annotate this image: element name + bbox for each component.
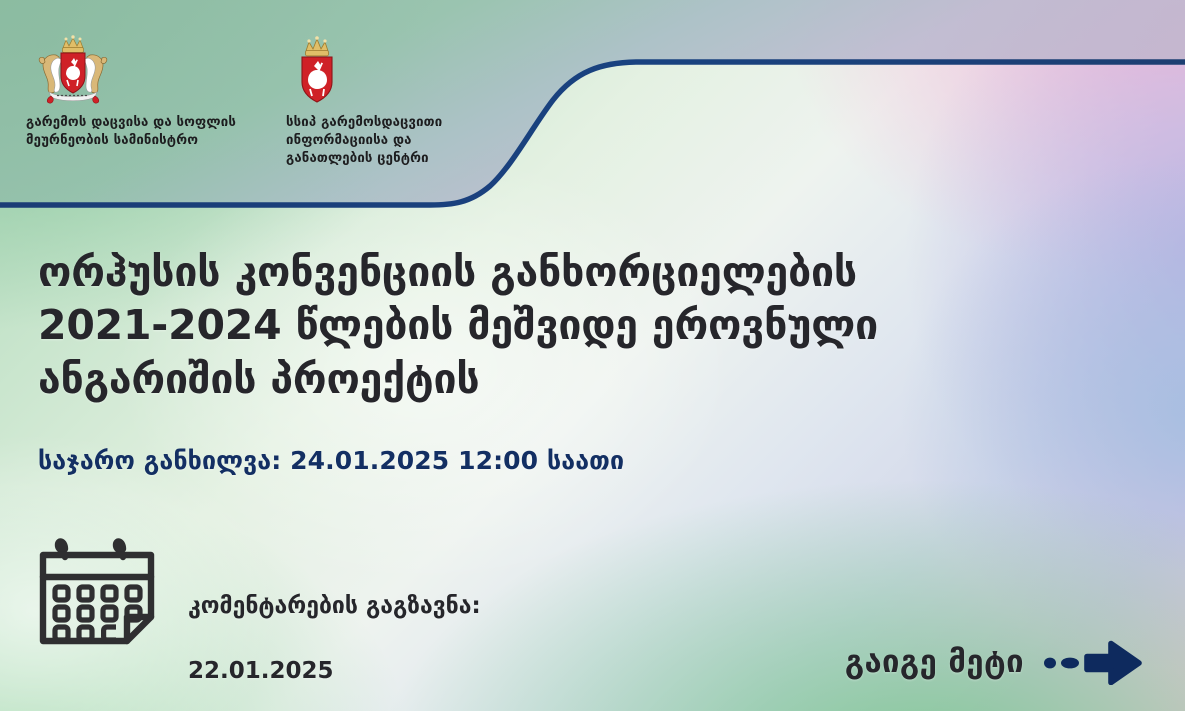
comment-deadline-group: კომენტარების გაგზავნა: 22.01.2025 [34,528,481,687]
crown-part [306,36,329,56]
page-title: ორჰუსის კონვენციის განხორციელების 2021-2… [38,246,998,406]
logo-ssip: სსიპ გარემოსდაცვითი ინფორმაციისა და განა… [286,34,501,168]
crown-part [63,35,84,52]
learn-more-cta[interactable]: გაიგე მეტი [845,639,1143,685]
public-hearing-line: საჯარო განხილვა: 24.01.2025 12:00 საათი [38,446,624,475]
poster-canvas: გარემოს დაცვისა და სოფლის მეურნეობის სამ… [0,0,1185,711]
dotted-arrow-right-icon[interactable] [1043,639,1143,685]
logo-ministry-caption: გარემოს დაცვისა და სოფლის მეურნეობის სამ… [26,114,276,150]
logo-ssip-caption: სსიპ გარემოსდაცვითი ინფორმაციისა და განა… [286,114,501,168]
ssip-shield-icon [290,34,344,106]
comment-deadline-date: 22.01.2025 [188,658,334,684]
georgia-coat-of-arms-icon [35,34,111,106]
comment-deadline-label: კომენტარების გაგზავნა: [188,593,481,619]
logo-ministry: გარემოს დაცვისა და სოფლის მეურნეობის სამ… [26,34,276,150]
comment-deadline-text: კომენტარების გაგზავნა: 22.01.2025 [188,558,481,687]
calendar-icon [34,532,160,650]
learn-more-label[interactable]: გაიგე მეტი [845,644,1024,680]
